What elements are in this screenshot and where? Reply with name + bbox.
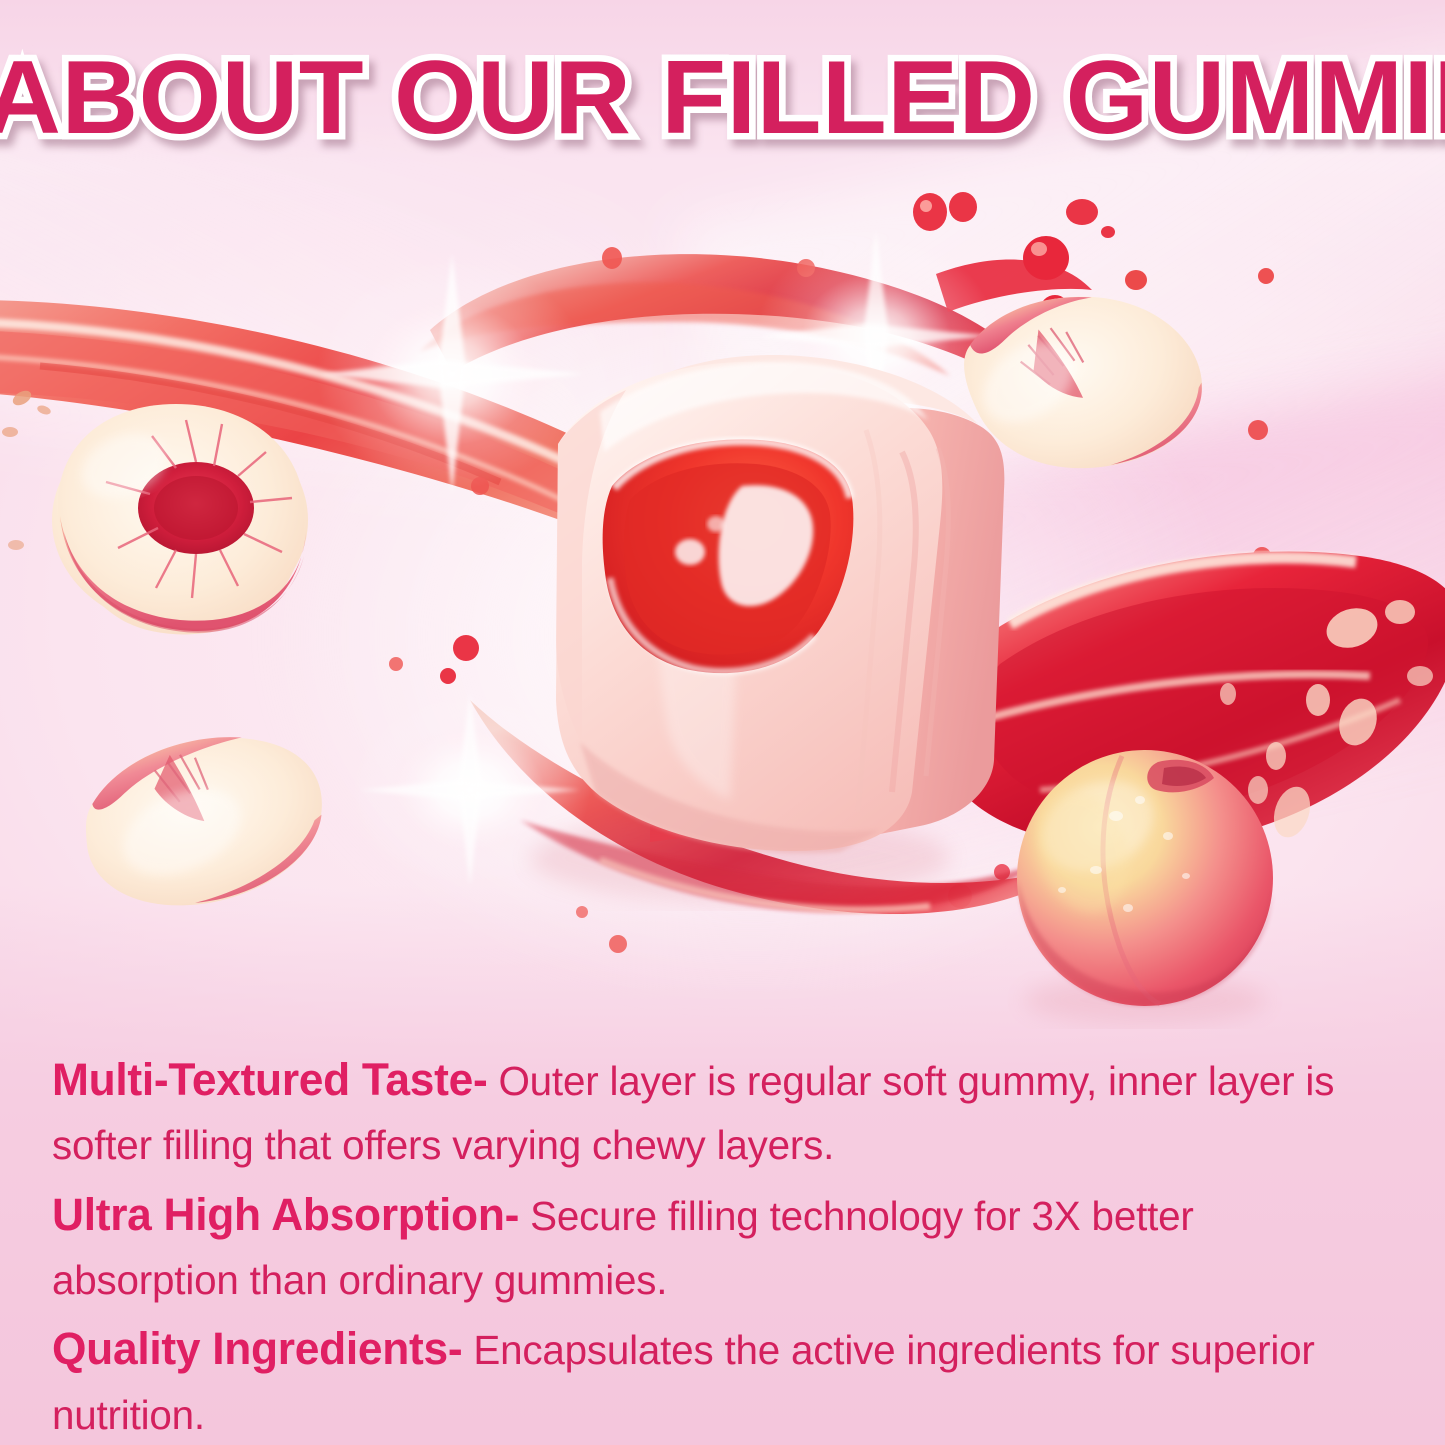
product-info-poster: ABOUT OUR FILLED GUMMIES Multi-Textured … [0, 0, 1445, 1445]
title-block: ABOUT OUR FILLED GUMMIES [0, 46, 1445, 150]
peach-slice-bottom-left [70, 717, 338, 925]
feature-lead: Ultra High Absorption- [52, 1189, 519, 1240]
feature-item: Multi-Textured Taste- Outer layer is reg… [52, 1046, 1381, 1177]
feature-list: Multi-Textured Taste- Outer layer is reg… [52, 1046, 1401, 1445]
gummy-red-filling [603, 439, 854, 673]
page-title: ABOUT OUR FILLED GUMMIES [0, 46, 1445, 150]
feature-item: Quality Ingredients- Encapsulates the ac… [52, 1315, 1381, 1445]
feature-lead: Multi-Textured Taste- [52, 1054, 487, 1105]
feature-item: Ultra High Absorption- Secure filling te… [52, 1181, 1381, 1312]
feature-lead: Quality Ingredients- [52, 1323, 462, 1374]
peach-whole-bottom-right [1017, 750, 1273, 1024]
